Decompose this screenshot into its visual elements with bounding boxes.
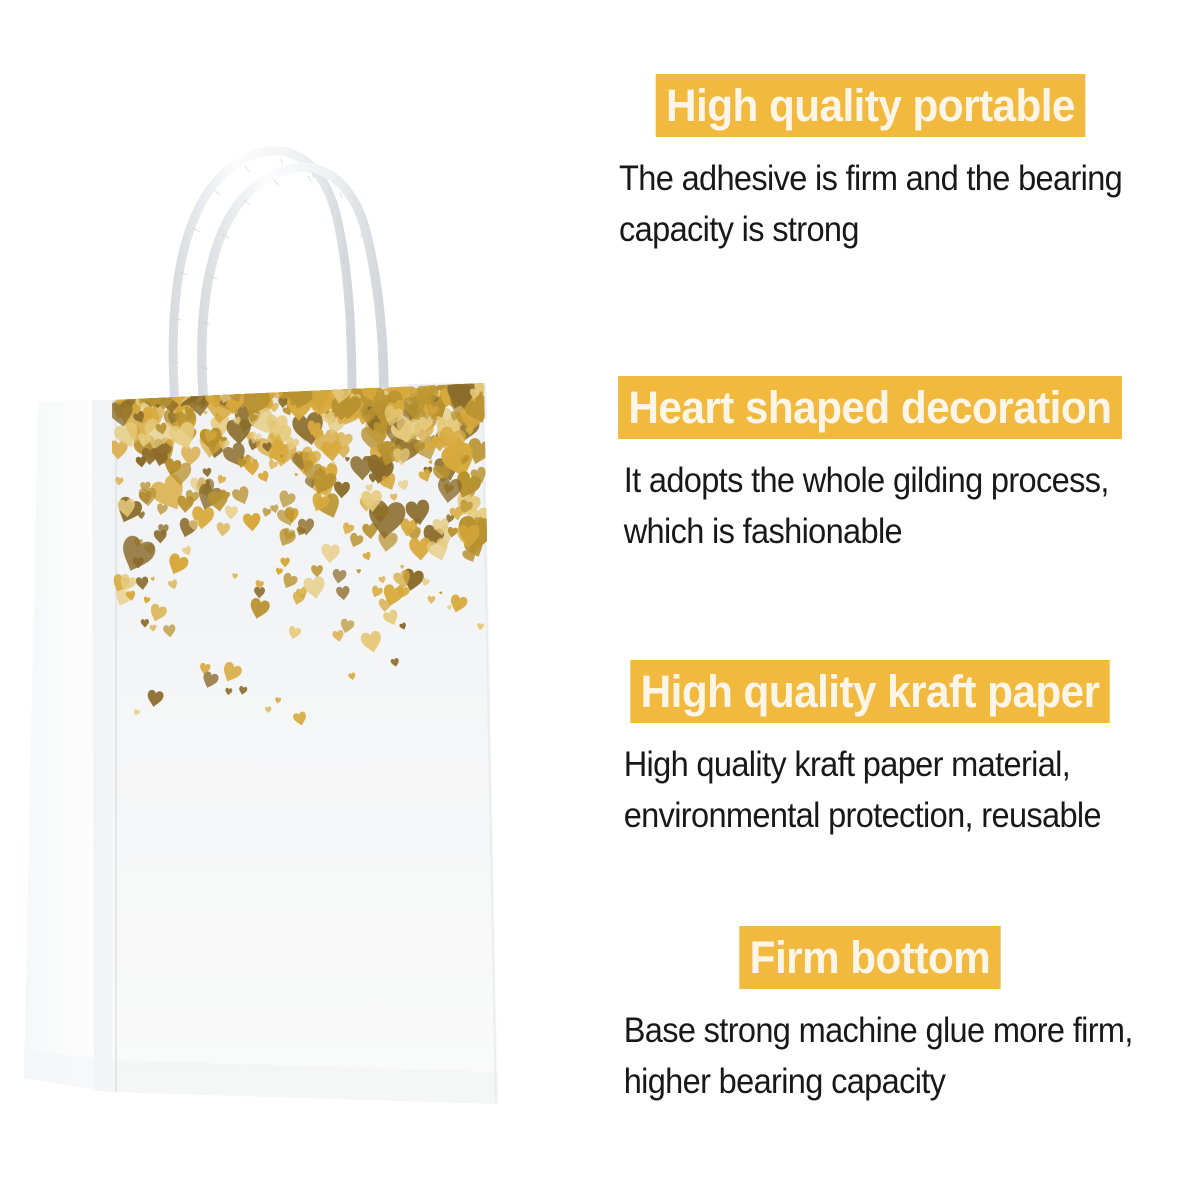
feature-heading-row: Firm bottom: [540, 926, 1200, 989]
paper-bag-illustration: [0, 0, 540, 1200]
feature-body-text: The adhesive is firm and the bearing cap…: [540, 153, 1154, 255]
product-infographic-page: High quality portable The adhesive is fi…: [0, 0, 1200, 1200]
feature-heading-row: Heart shaped decoration: [540, 376, 1200, 439]
feature-heading-banner: Heart shaped decoration: [618, 376, 1122, 439]
feature-body-text: It adopts the whole gilding process, whi…: [540, 455, 1154, 557]
feature-heading-row: High quality portable: [540, 74, 1200, 137]
feature-block-firm-bottom: Firm bottom Base strong machine glue mor…: [540, 926, 1200, 1107]
feature-heading-row: High quality kraft paper: [540, 660, 1200, 723]
feature-body-text: Base strong machine glue more firm, high…: [540, 1005, 1154, 1107]
gold-heart: [188, 389, 194, 396]
product-image: [0, 0, 540, 1200]
gold-heart: [122, 387, 133, 398]
gold-heart: [118, 388, 128, 398]
feature-heading-banner: Firm bottom: [739, 926, 1000, 989]
feature-body-text: High quality kraft paper material, envir…: [540, 739, 1154, 841]
bag-gusset-fold-shade: [92, 400, 112, 1092]
feature-heading-banner: High quality kraft paper: [630, 660, 1110, 723]
twisted-paper-handle-front: [202, 167, 384, 406]
feature-block-high-quality-kraft-paper: High quality kraft paper High quality kr…: [540, 660, 1200, 841]
feature-block-high-quality-portable: High quality portable The adhesive is fi…: [540, 74, 1200, 255]
feature-block-heart-shaped-decoration: Heart shaped decoration It adopts the wh…: [540, 376, 1200, 557]
feature-list: High quality portable The adhesive is fi…: [540, 0, 1200, 1200]
feature-heading-banner: High quality portable: [655, 74, 1085, 137]
